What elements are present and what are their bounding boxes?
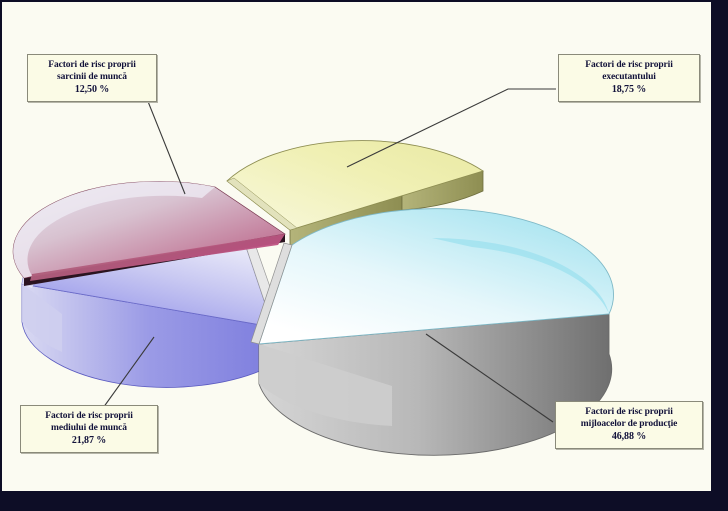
callout-percent: 21,87 % xyxy=(25,435,153,447)
callout-line-2: sarcinii de muncă xyxy=(32,72,152,84)
callout-percent: 46,88 % xyxy=(560,431,698,443)
callout-line-2: executantului xyxy=(563,72,695,84)
chart-canvas: Factori de risc proprii sarcinii de munc… xyxy=(0,0,728,511)
callout-mediului-de-munca[interactable]: Factori de risc proprii mediului de munc… xyxy=(20,405,158,453)
callout-line-2: mediului de muncă xyxy=(25,423,153,435)
plot-area: Factori de risc proprii sarcinii de munc… xyxy=(2,2,711,491)
callout-line-1: Factori de risc proprii xyxy=(25,411,153,423)
callout-line-1: Factori de risc proprii xyxy=(560,407,698,419)
callout-line-1: Factori de risc proprii xyxy=(563,60,695,72)
callout-mijloacelor-de-productie[interactable]: Factori de risc proprii mijloacelor de p… xyxy=(555,401,703,449)
callout-percent: 12,50 % xyxy=(32,84,152,96)
callout-line-2: mijloacelor de producţie xyxy=(560,419,698,431)
callout-percent: 18,75 % xyxy=(563,84,695,96)
leader-line-sarcinii-de-munca xyxy=(145,94,185,194)
callout-executantului[interactable]: Factori de risc proprii executantului 18… xyxy=(558,54,700,102)
callout-line-1: Factori de risc proprii xyxy=(32,60,152,72)
callout-sarcinii-de-munca[interactable]: Factori de risc proprii sarcinii de munc… xyxy=(27,54,157,102)
